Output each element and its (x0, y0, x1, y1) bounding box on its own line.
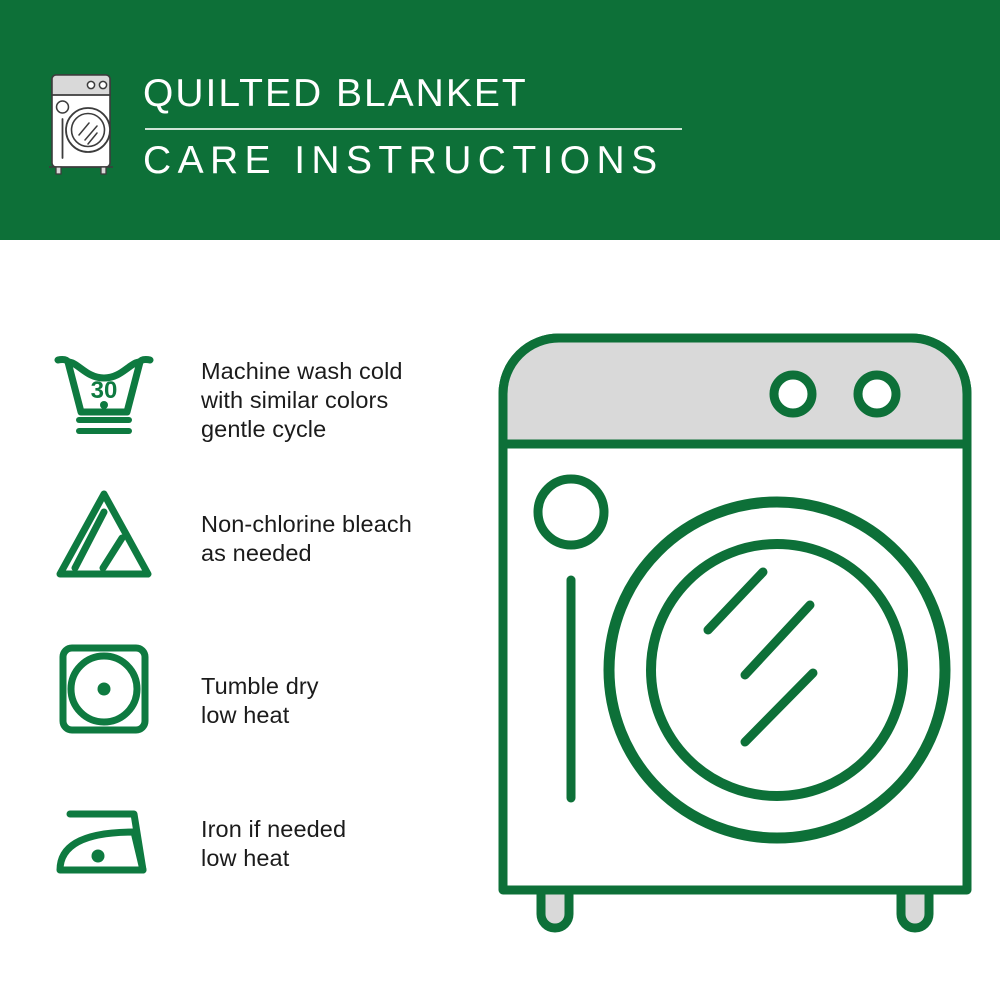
wash-temperature-value: 30 (91, 377, 118, 404)
care-label-bleach: Non-chlorine bleach as needed (201, 510, 412, 568)
page-title-secondary: CARE INSTRUCTIONS (143, 139, 703, 183)
care-label-dry: Tumble dry low heat (201, 672, 319, 730)
washing-machine-illustration (495, 330, 975, 940)
dispenser-icon (538, 479, 604, 545)
machine-leg-left (541, 890, 569, 928)
care-label-iron: Iron if needed low heat (201, 815, 346, 873)
header-banner: QUILTED BLANKET CARE INSTRUCTIONS (0, 0, 1000, 240)
door-inner-ring (651, 544, 903, 796)
care-label-wash: Machine wash cold with similar colors ge… (201, 357, 403, 444)
machine-leg-right (901, 890, 929, 928)
iron-low-heat-icon (48, 788, 160, 900)
control-knob-1[interactable] (774, 375, 812, 413)
machine-wash-30-gentle-icon: 30 (48, 338, 160, 450)
care-instructions-page: QUILTED BLANKET CARE INSTRUCTIONS 30 Mac… (0, 0, 1000, 1000)
care-instruction-list: 30 Machine wash cold with similar colors… (0, 240, 480, 1000)
title-divider (145, 128, 682, 130)
non-chlorine-bleach-icon (48, 478, 160, 590)
tumble-dry-low-icon (48, 633, 160, 745)
washing-machine-icon (47, 72, 121, 176)
control-knob-2[interactable] (858, 375, 896, 413)
header-title-block: QUILTED BLANKET CARE INSTRUCTIONS (143, 72, 703, 183)
page-title-primary: QUILTED BLANKET (143, 72, 703, 116)
